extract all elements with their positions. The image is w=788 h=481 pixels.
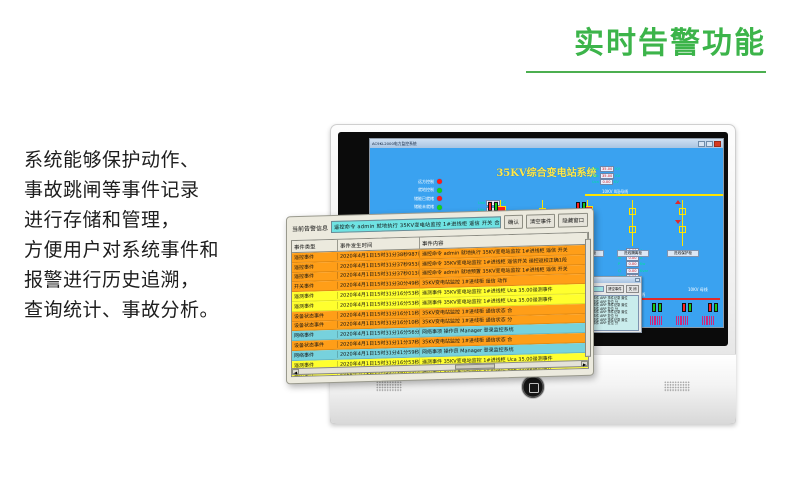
description-text: 系统能够保护动作、 事故跳闸等事件记录 进行存储和管理， 方便用户对系统事件和 … [24, 145, 294, 325]
speaker-grille-right-icon [664, 381, 690, 392]
sub-close-button[interactable]: 关 闭 [626, 285, 639, 293]
page-title: 实时告警功能 [526, 26, 766, 62]
sub-clear-events-button[interactable]: 清空事件 [606, 285, 625, 293]
lamp-indicator-icon [437, 196, 442, 201]
cell-time: 2020年4月1日15时31分16分10秒574毫秒 [338, 319, 420, 328]
meter-value: 0.00 [600, 179, 613, 185]
meter-block-2: Uab35.00KV Ubc35.00KV Uca0.00KV [592, 166, 620, 186]
meter-key: Uab [592, 167, 599, 171]
vertical-scrollbar[interactable] [585, 239, 591, 357]
description-line: 方便用户对系统事件和 [24, 235, 294, 265]
cell-type: 设备状态事件 [292, 321, 338, 329]
lamp-label: 远方控制 [408, 179, 434, 185]
minimize-icon[interactable] [698, 141, 705, 147]
meter-unit: Kw [640, 262, 645, 266]
cell-type: 开关事件 [292, 282, 338, 290]
lamp-indicator-icon [437, 205, 442, 210]
meter-value: 35.00 [600, 173, 614, 179]
column-header-type[interactable]: 事件类型 [292, 240, 338, 252]
scroll-thumb[interactable] [455, 363, 495, 369]
disconnector-icon[interactable] [629, 226, 636, 233]
description-line: 报警进行历史追溯， [24, 265, 294, 295]
lower-switch-pair[interactable] [652, 303, 662, 312]
bay-label: 进线隔离柜 [617, 250, 649, 257]
cell-type: 遥测事件 [292, 302, 338, 310]
disconnector-icon[interactable] [679, 226, 686, 233]
meter-unit: KV [501, 201, 506, 205]
confirm-button[interactable]: 确认 [504, 215, 523, 230]
lamp-indicator-icon [437, 188, 442, 193]
alarm-toolbar-label: 当前告警信息 [292, 223, 328, 233]
lamp-label: 储能已就绪 [408, 196, 434, 202]
meter-key: P [618, 262, 625, 266]
load-icon [676, 316, 688, 325]
meter-unit: KV [614, 180, 619, 184]
disconnector-icon[interactable] [629, 208, 636, 215]
meter-unit: Kvar [640, 269, 648, 273]
feeder-arrow-icon [675, 220, 681, 224]
cell-type: 网络事件 [292, 351, 338, 359]
meter-value: 0.00 [626, 268, 639, 274]
home-button[interactable] [522, 376, 544, 398]
cell-time: 2020年4月1日15时31分16分56分59秒97毫秒 [338, 329, 420, 338]
cell-type: 遥控事件 [292, 272, 338, 280]
lamp-row: 远方控制 [408, 178, 442, 185]
lamp-row: 储能未就绪 [408, 204, 442, 211]
cell-type: 遥测事件 [292, 292, 338, 300]
title-underline [526, 71, 766, 73]
cell-time: 2020年4月1日15时31分16分53秒97毫秒 [338, 290, 420, 299]
meter-unit: KV [615, 167, 620, 171]
alarm-window[interactable]: 当前告警信息 遥控命令 admin 就地执行 35KV变电站监控 1#进线柜 遥… [286, 208, 594, 385]
cell-time: 2020年4月1日15时31分37秒953毫秒 [338, 260, 420, 269]
cell-type: 遥控事件 [292, 253, 338, 261]
speaker-grille-left-icon [376, 381, 402, 392]
close-icon[interactable] [635, 278, 640, 283]
cell-time: 2020年4月1日15时31分16分53秒58毫秒 [338, 299, 420, 308]
disconnector-icon[interactable] [679, 208, 686, 215]
cell-type: 设备状态事件 [292, 312, 338, 320]
cell-time: 2020年4月1日15时31分11分37秒634毫秒 [338, 339, 420, 348]
busbar-label: 10KV 母线 [688, 287, 708, 293]
diagram-title: 35KV综合变电站系统 [496, 164, 596, 179]
description-line: 事故跳闸等事件记录 [24, 175, 294, 205]
alarm-table[interactable]: 事件类型 事件发生时间 事件内容 遥控事件 2020年4月1日15时31分38秒… [291, 232, 589, 377]
headline-block: 实时告警功能 [526, 26, 766, 73]
clear-events-button[interactable]: 清空事件 [526, 214, 556, 229]
description-line: 查询统计、事故分析。 [24, 295, 294, 325]
meter-value: 35.00 [600, 166, 614, 172]
alarm-table-body[interactable]: 遥控事件 2020年4月1日15时31分38秒987毫秒 遥控命令 admin … [292, 245, 588, 376]
maximize-icon[interactable] [706, 141, 713, 147]
load-icon [650, 316, 662, 325]
lower-switch-pair[interactable] [682, 303, 692, 312]
busbar-label: 10KV II段母线 [602, 189, 628, 195]
lamp-label: 就地控制 [408, 187, 434, 193]
alarm-marquee: 遥控命令 admin 就地执行 35KV变电站监控 1#进线柜 遥信 开关 合-… [331, 216, 501, 233]
cell-type: 网络事件 [292, 331, 338, 339]
description-line: 系统能够保护动作、 [24, 145, 294, 175]
bay-label: 进线保护柜 [667, 250, 699, 257]
meter-key: Ubc [592, 174, 599, 178]
hide-window-button[interactable]: 隐藏窗口 [558, 213, 588, 228]
cell-time: 2020年4月1日15时31分37秒013毫秒 [338, 270, 420, 279]
cell-time: 2020年4月1日15时31分16分11秒423毫秒 [338, 309, 420, 318]
lamp-row: 就地控制 [408, 187, 442, 194]
cell-type: 遥控事件 [292, 263, 338, 271]
description-line: 进行存储和管理， [24, 205, 294, 235]
scada-window-title: AC9KL2000电力监控系统 [372, 141, 417, 147]
feeder-arrow-icon [675, 200, 681, 204]
meter-key: Uab [478, 201, 485, 205]
scada-titlebar[interactable]: AC9KL2000电力监控系统 [370, 139, 723, 148]
lower-switch-pair[interactable] [708, 303, 718, 312]
column-header-time[interactable]: 事件发生时间 [338, 238, 420, 251]
close-icon[interactable] [714, 141, 721, 147]
cell-time: 2020年4月1日15时31分30分49秒100毫秒 [338, 280, 420, 289]
lamp-row: 储能已就绪 [408, 195, 442, 202]
meter-unit: KV [615, 174, 620, 178]
cell-time: 2020年4月1日15时31分38秒987毫秒 [338, 250, 420, 259]
meter-key: Uca [592, 180, 599, 184]
scroll-left-arrow-icon[interactable]: ◀ [292, 369, 299, 374]
load-icon [702, 316, 714, 325]
lamp-label: 储能未就绪 [408, 204, 434, 210]
window-controls[interactable] [698, 141, 721, 147]
scroll-right-arrow-icon[interactable]: ▶ [581, 361, 588, 366]
cell-time: 2020年4月1日15时31分41分59秒986毫秒 [338, 348, 420, 357]
alarm-marquee-text: 遥控命令 admin 就地执行 35KV变电站监控 1#进线柜 遥信 开关 合-… [334, 218, 501, 230]
meter-key: Q [618, 269, 625, 273]
status-lamp-panel: 远方控制 就地控制 储能已就绪 储能未就绪 [408, 178, 442, 212]
alarm-window-body: 当前告警信息 遥控命令 admin 就地执行 35KV变电站监控 1#进线柜 遥… [287, 209, 593, 378]
lamp-indicator-icon [437, 179, 442, 184]
meter-value: 0.00 [626, 261, 639, 267]
cell-type: 设备状态事件 [292, 341, 338, 349]
